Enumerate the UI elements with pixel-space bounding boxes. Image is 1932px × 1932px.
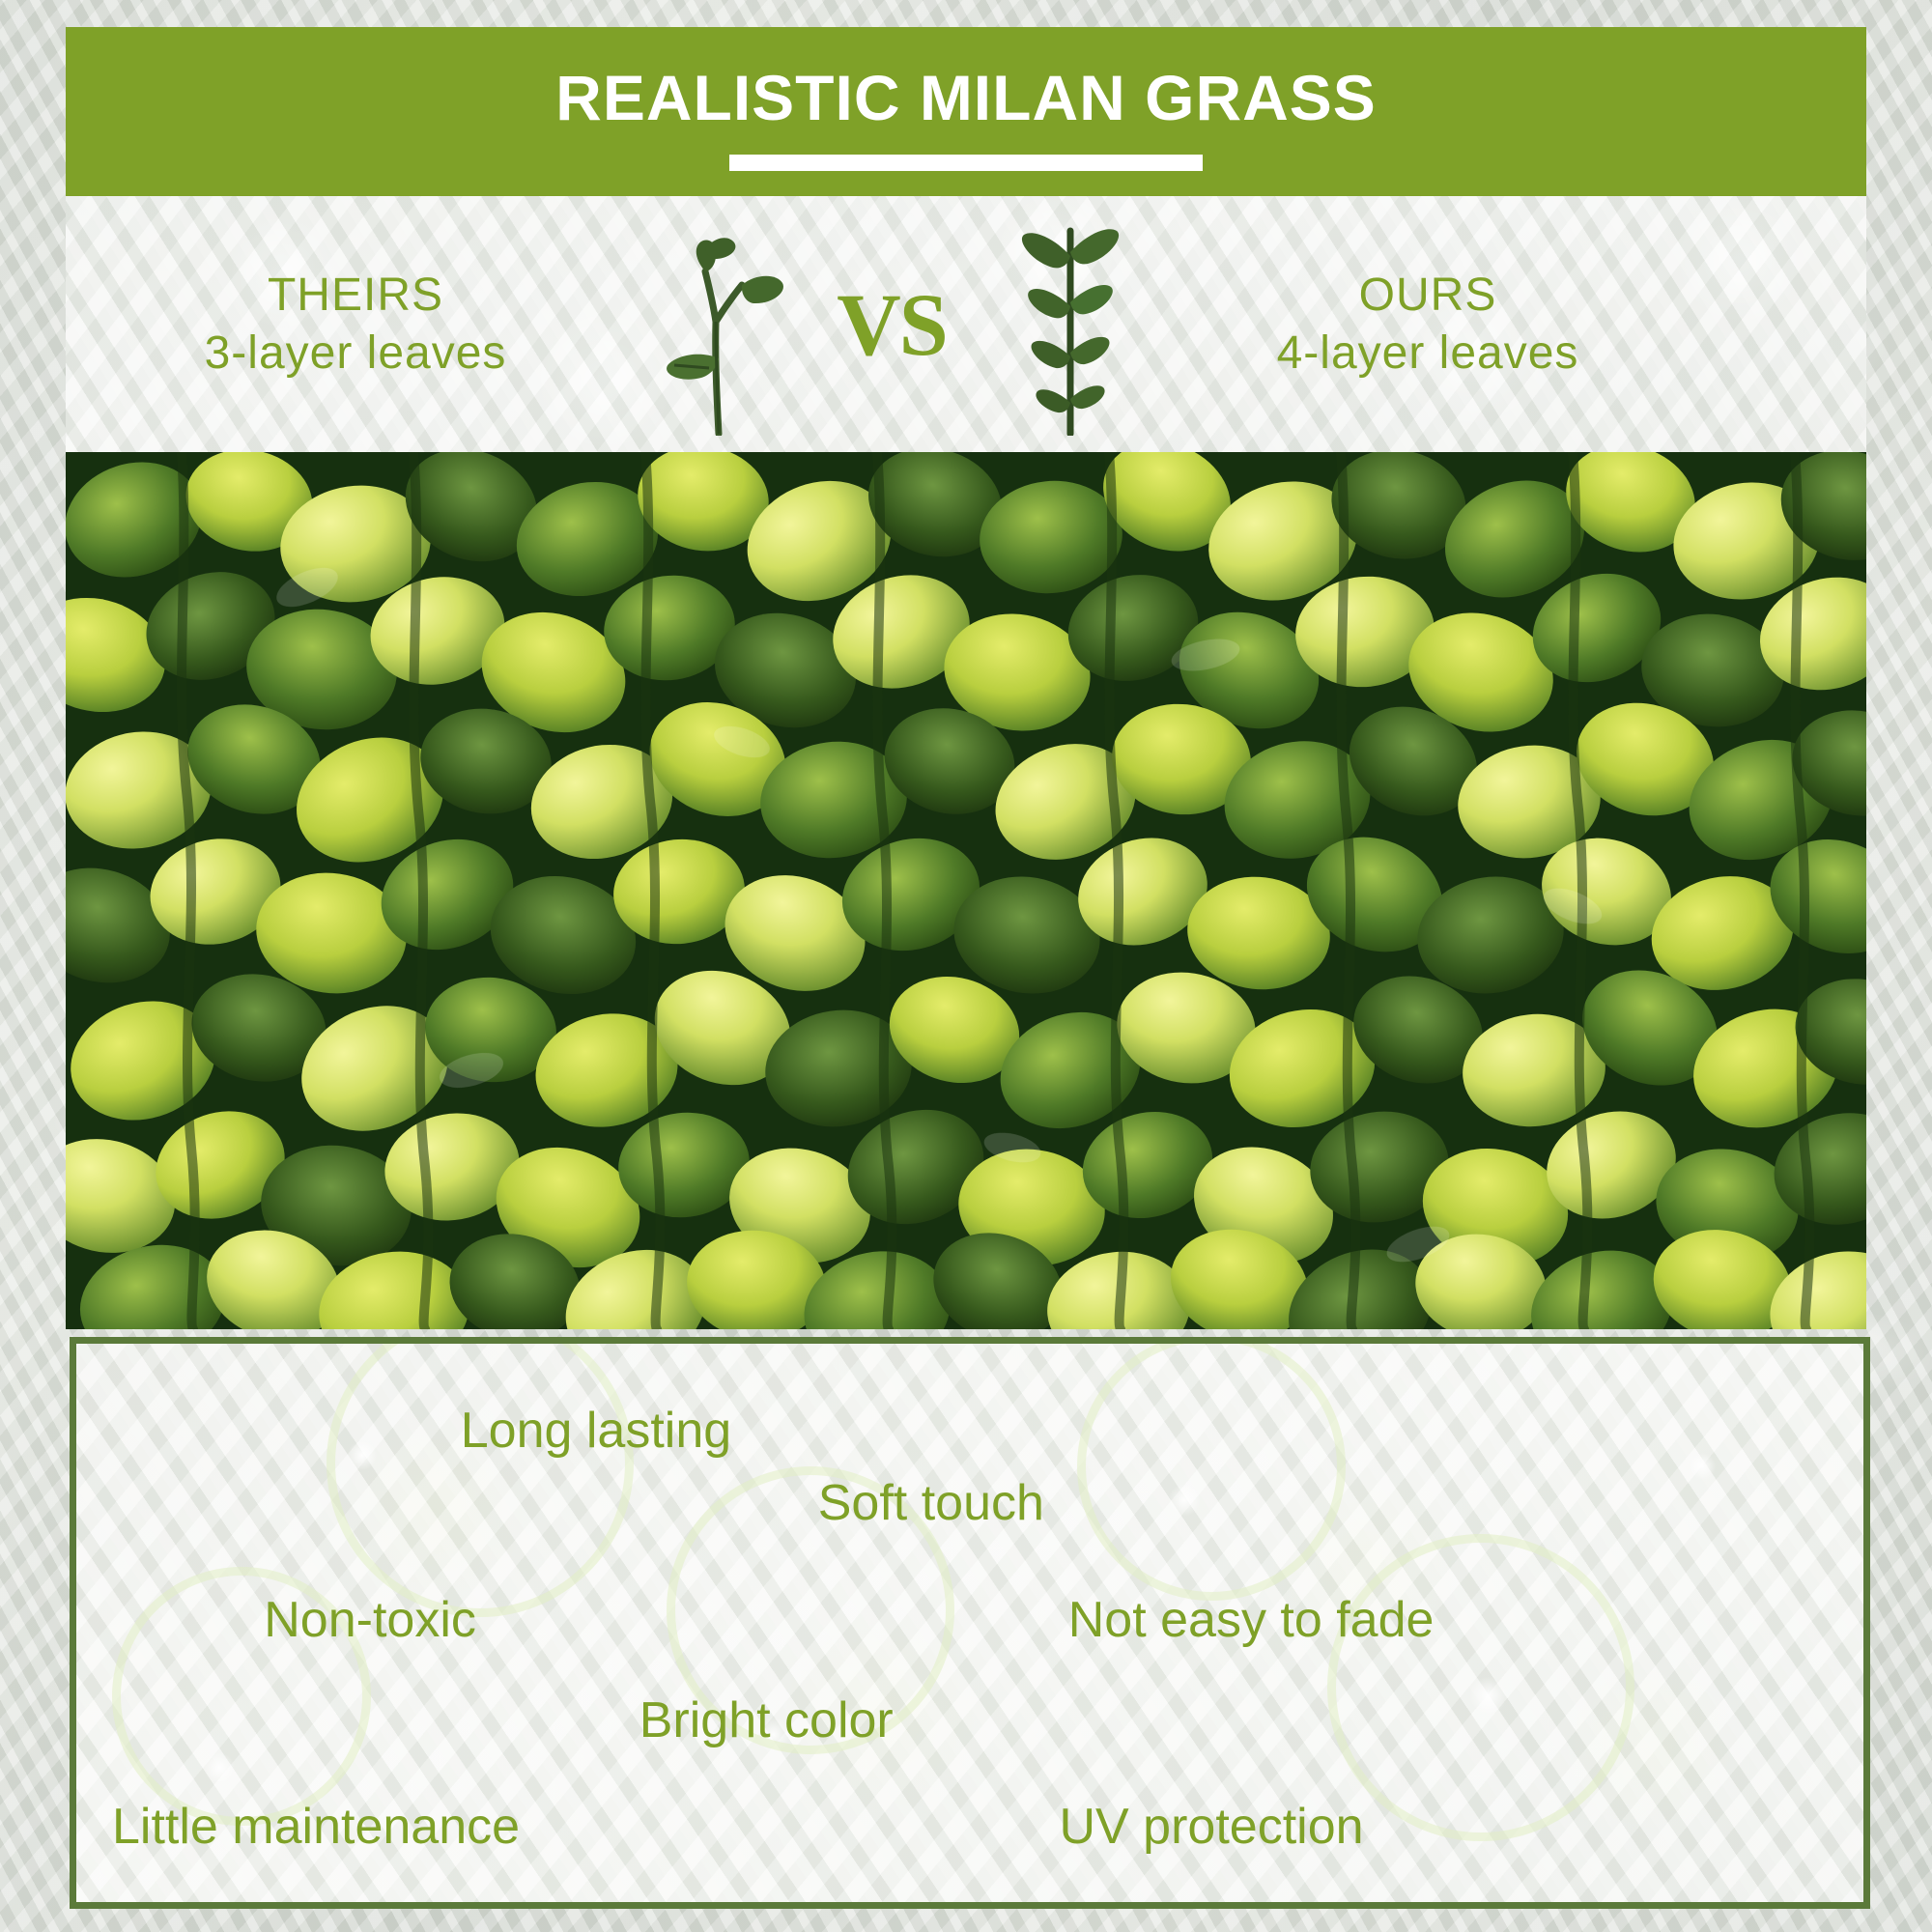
ours-label: OURS	[1359, 267, 1497, 325]
comparison-band: THEIRS 3-layer leaves	[66, 196, 1866, 452]
feature-little-maintenance: Little maintenance	[112, 1802, 520, 1852]
feature-uv-protection: UV protection	[1060, 1802, 1364, 1852]
decorative-ring	[1327, 1534, 1634, 1841]
three-layer-sprig-icon	[626, 213, 800, 436]
feature-not-easy-to-fade: Not easy to fade	[1068, 1595, 1435, 1645]
poster-inner-content: REALISTIC MILAN GRASS THEIRS 3-layer lea…	[66, 27, 1866, 1905]
theirs-label: THEIRS	[268, 267, 443, 325]
comparison-theirs: THEIRS 3-layer leaves	[85, 267, 626, 382]
features-panel: Long lasting Soft touch Not easy to fade…	[70, 1337, 1870, 1909]
feature-non-toxic: Non-toxic	[264, 1595, 476, 1645]
feature-long-lasting: Long lasting	[461, 1406, 731, 1456]
product-photo	[66, 452, 1866, 1329]
product-infographic-poster: REALISTIC MILAN GRASS THEIRS 3-layer lea…	[0, 0, 1932, 1932]
title-banner: REALISTIC MILAN GRASS	[66, 27, 1866, 196]
ours-detail: 4-layer leaves	[1277, 325, 1579, 383]
feature-bright-color: Bright color	[639, 1695, 894, 1746]
decorative-ring	[327, 1337, 634, 1617]
four-layer-sprig-icon	[983, 213, 1157, 436]
comparison-ours: OURS 4-layer leaves	[1157, 267, 1698, 382]
theirs-detail: 3-layer leaves	[205, 325, 507, 383]
feature-soft-touch: Soft touch	[818, 1478, 1044, 1528]
versus-badge: VS	[800, 273, 983, 376]
page-title: REALISTIC MILAN GRASS	[555, 66, 1377, 129]
decorative-ring	[1077, 1337, 1346, 1601]
comparison-row: THEIRS 3-layer leaves	[66, 196, 1866, 452]
title-underline-rule	[729, 155, 1203, 171]
